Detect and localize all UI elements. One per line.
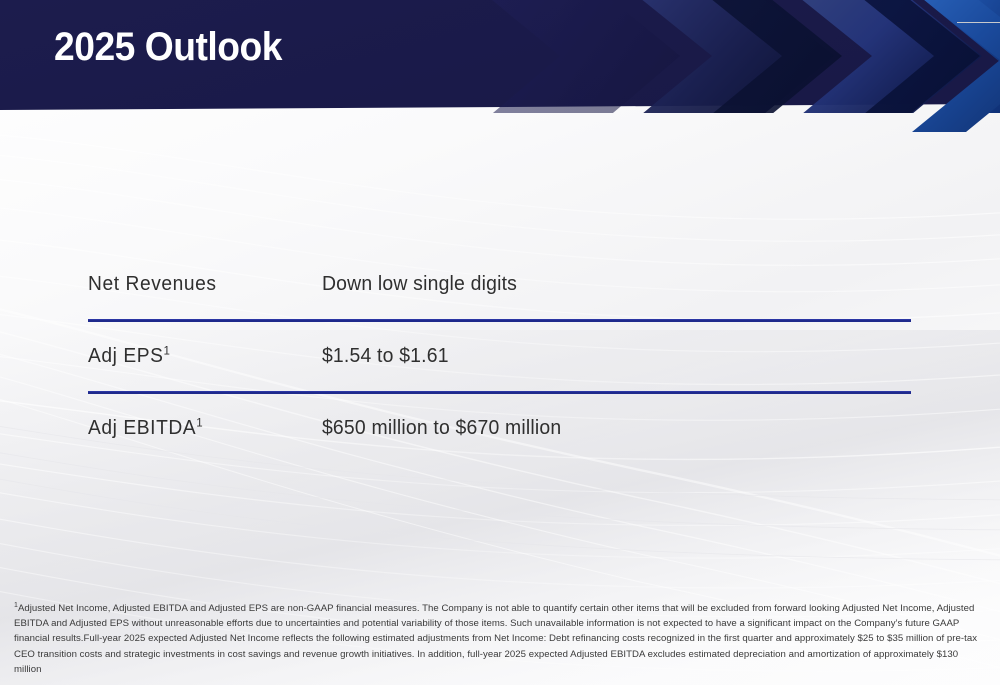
row-label-text: Adj EPS [88, 345, 164, 367]
header-chevron-overflow [900, 0, 1000, 135]
slide-canvas: 2025 Outlook Net Revenues Down low singl… [0, 0, 1000, 685]
footnote: 1Adjusted Net Income, Adjusted EBITDA an… [14, 601, 986, 677]
row-label-adj-ebitda: Adj EBITDA1 [88, 417, 280, 440]
top-right-rule [957, 22, 1000, 23]
row-label-superscript: 1 [164, 343, 171, 357]
table-row: Adj EBITDA1 $650 million to $670 million [88, 394, 911, 463]
row-value-adj-eps: $1.54 to $1.61 [288, 345, 892, 368]
slide-header: 2025 Outlook [0, 0, 1000, 113]
row-value-adj-ebitda: $650 million to $670 million [288, 417, 892, 440]
outlook-table: Net Revenues Down low single digits Adj … [88, 250, 911, 463]
row-label-net-revenues: Net Revenues [88, 273, 280, 296]
footnote-text: Adjusted Net Income, Adjusted EBITDA and… [14, 603, 977, 675]
row-label-superscript: 1 [196, 415, 203, 429]
table-row: Adj EPS1 $1.54 to $1.61 [88, 322, 911, 391]
page-title: 2025 Outlook [54, 25, 282, 70]
row-value-net-revenues: Down low single digits [288, 273, 892, 296]
table-row: Net Revenues Down low single digits [88, 250, 911, 319]
row-value-text: Down low single digits [322, 273, 517, 295]
row-label-adj-eps: Adj EPS1 [88, 345, 280, 368]
row-value-text: $650 million to $670 million [322, 417, 561, 439]
row-value-text: $1.54 to $1.61 [322, 345, 449, 367]
row-label-text: Net Revenues [88, 273, 217, 295]
row-label-text: Adj EBITDA [88, 417, 196, 439]
